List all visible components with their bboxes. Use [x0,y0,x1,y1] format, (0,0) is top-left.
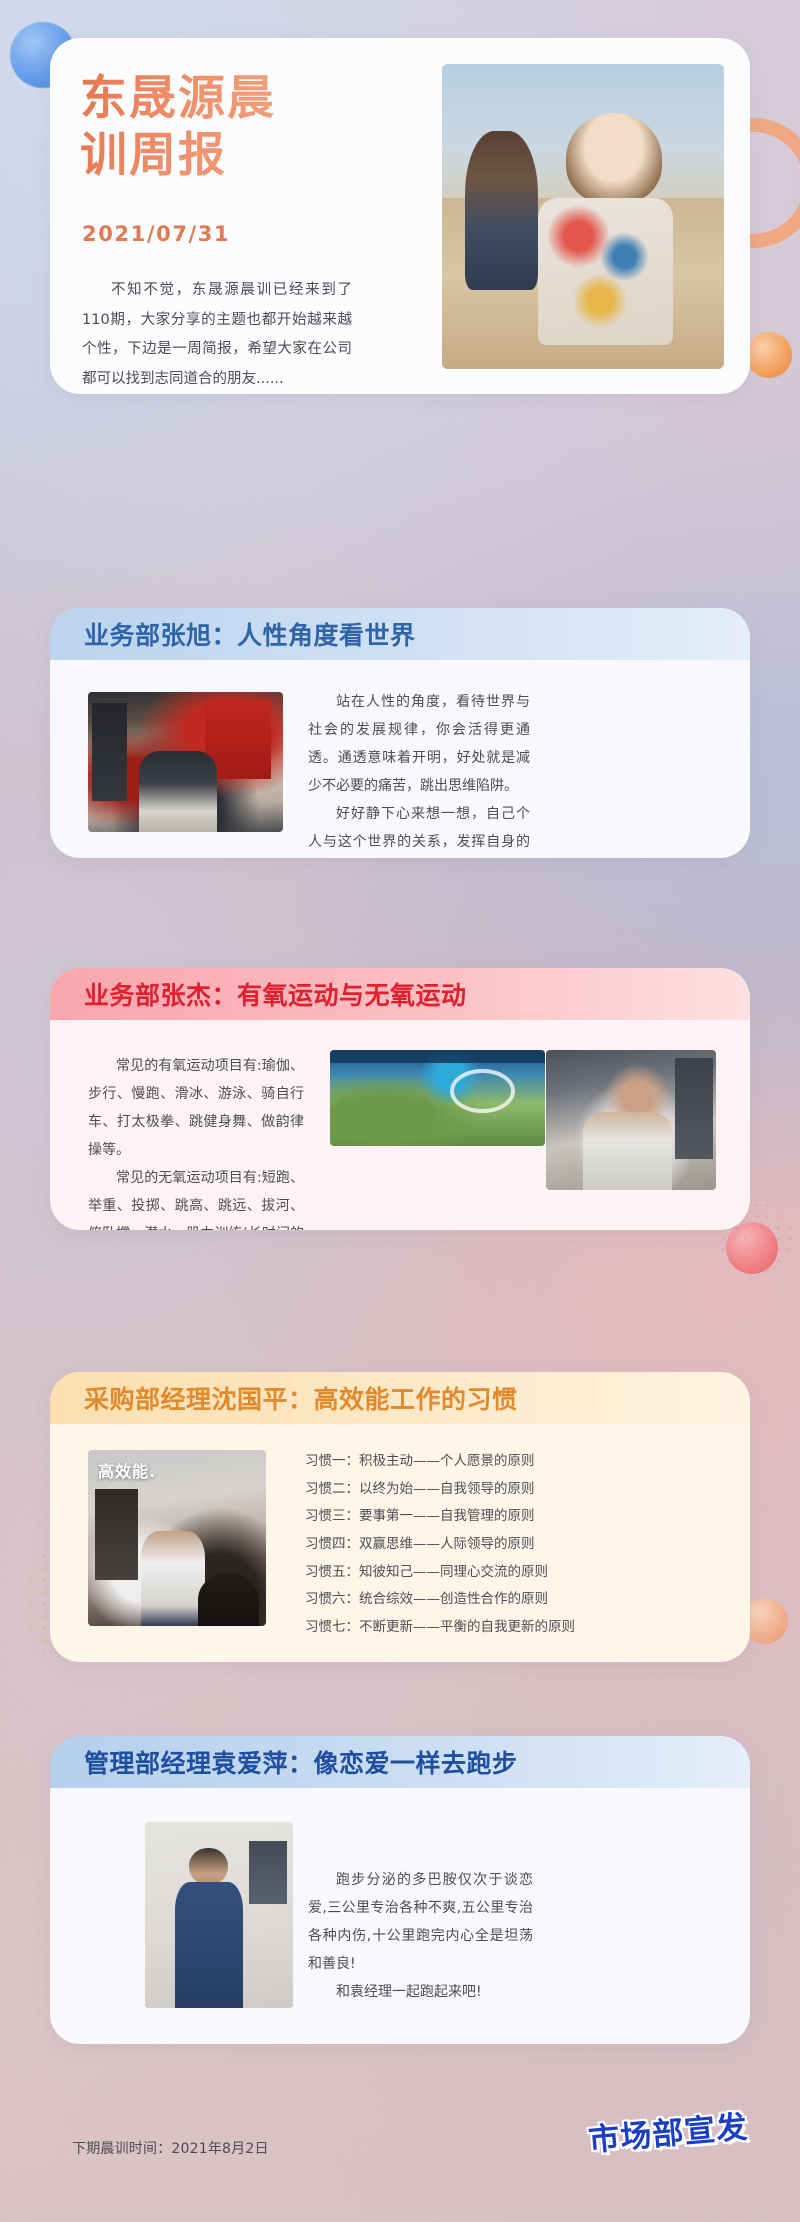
habit-item: 习惯一：积极主动——个人愿景的原则 [305,1448,575,1476]
section-photo-2-slide-graphic [450,1069,515,1113]
section-body-2: 常见的有氧运动项目有:瑜伽、步行、慢跑、滑冰、游泳、骑自行车、打太极拳、跳健身舞… [88,1052,304,1230]
section-photo-3-audience-head [198,1573,259,1626]
habit-item: 习惯六：统合综效——创造性合作的原则 [305,1586,575,1614]
section-body-2-p1: 常见的有氧运动项目有:瑜伽、步行、慢跑、滑冰、游泳、骑自行车、打太极拳、跳健身舞… [88,1052,304,1164]
section-heading-4: 管理部经理袁爱萍：像恋爱一样去跑步 [84,1744,518,1780]
section-heading-3: 采购部经理沈国平：高效能工作的习惯 [84,1380,518,1416]
page-title: 东晟源晨 训周报 [80,70,276,185]
section-photo-1-speaker [139,751,217,832]
hero-card: 东晟源晨 训周报 2021/07/31 不知不觉，东晟源晨训已经来到了110期，… [50,38,750,394]
section-body-2-p2: 常见的无氧运动项目有:短跑、举重、投掷、跳高、跳远、拔河、俯卧撑、潜水、肌力训练… [88,1164,304,1230]
section-photo-1-speaker-stack [92,703,127,801]
issue-date: 2021/07/31 [82,222,230,246]
section-photo-2-speaker [546,1050,716,1190]
habit-item: 习惯七：不断更新——平衡的自我更新的原则 [305,1614,575,1642]
next-session-note: 下期晨训时间：2021年8月2日 [72,2138,269,2158]
hero-photo-second-person [465,131,538,290]
habits-list: 习惯一：积极主动——个人愿景的原则 习惯二：以终为始——自我领导的原则 习惯三：… [305,1448,575,1642]
hero-photo-ground [442,198,724,369]
decor-blob-orange-right [746,332,792,378]
hero-photo-sky [442,64,724,204]
habit-item: 习惯三：要事第一——自我管理的原则 [305,1503,575,1531]
section-card-shenguoping: 采购部经理沈国平：高效能工作的习惯 高效能. 习惯一：积极主动——个人愿景的原则… [50,1372,750,1662]
section-photo-2-slide-header [330,1050,545,1063]
department-stamp: 市场部宣发 [586,2101,749,2160]
section-body-1-p1: 站在人性的角度，看待世界与社会的发展规律，你会活得更通透。通透意味着开明，好处就… [308,688,530,800]
decor-blob-pink-right [726,1222,778,1274]
section-heading-1: 业务部张旭：人性角度看世界 [84,616,416,652]
section-body-4: 跑步分泌的多巴胺仅次于谈恋爱,三公里专治各种不爽,五公里专治各种内伤,十公里跑完… [308,1866,533,2006]
section-body-1-p2: 好好静下心来想一想，自己个人与这个世界的关系，发挥自身的优势，跟上时代发展的脚步… [308,800,530,858]
section-photo-2-slide [330,1050,545,1146]
hero-photo-subject-dress [538,198,673,344]
section-header-band-1: 业务部张旭：人性角度看世界 [50,608,750,660]
section-photo-3: 高效能. [88,1450,266,1626]
section-header-band-4: 管理部经理袁爱萍：像恋爱一样去跑步 [50,1736,750,1788]
section-photo-4-wall [145,1822,293,2008]
habit-item: 习惯五：知彼知己——同理心交流的原则 [305,1559,575,1587]
section-photo-4 [145,1822,293,2008]
hero-photo [442,64,724,369]
section-photo-3-presenter [141,1531,205,1626]
section-header-band-2: 业务部张杰：有氧运动与无氧运动 [50,968,750,1020]
section-heading-2: 业务部张杰：有氧运动与无氧运动 [84,976,467,1012]
page-title-line-2: 训周报 [80,127,276,184]
section-header-band-3: 采购部经理沈国平：高效能工作的习惯 [50,1372,750,1424]
section-photo-1-banner [205,700,271,778]
section-photo-1 [88,692,283,832]
section-body-1: 站在人性的角度，看待世界与社会的发展规律，你会活得更通透。通透意味着开明，好处就… [308,688,530,858]
section-photo-4-presenter-dress [175,1882,243,2008]
intro-paragraph: 不知不觉，东晟源晨训已经来到了110期，大家分享的主题也都开始越来越个性，下边是… [82,276,352,394]
section-photo-4-presenter-head [189,1848,227,1885]
section-photo-4-speaker-stack [249,1841,287,1904]
habit-item: 习惯二：以终为始——自我领导的原则 [305,1476,575,1504]
section-photo-3-stack [95,1489,138,1581]
section-photo-2-speaker-stack [675,1058,712,1159]
section-photo-3-caption: 高效能. [98,1458,156,1482]
section-card-zhangjie: 业务部张杰：有氧运动与无氧运动 常见的有氧运动项目有:瑜伽、步行、慢跑、滑冰、游… [50,968,750,1230]
hero-photo-subject-hair [566,113,662,205]
section-body-4-p1: 跑步分泌的多巴胺仅次于谈恋爱,三公里专治各种不爽,五公里专治各种内伤,十公里跑完… [308,1866,533,1978]
section-photo-2-speaker-body [583,1112,671,1190]
page-title-line-1: 东晟源晨 [80,70,276,127]
habit-item: 习惯四：双赢思维——人际领导的原则 [305,1531,575,1559]
section-card-zhangxu: 业务部张旭：人性角度看世界 站在人性的角度，看待世界与社会的发展规律，你会活得更… [50,608,750,858]
section-card-yuanaiping: 管理部经理袁爱萍：像恋爱一样去跑步 跑步分泌的多巴胺仅次于谈恋爱,三公里专治各种… [50,1736,750,2044]
section-body-4-p2: 和袁经理一起跑起来吧! [308,1978,533,2006]
